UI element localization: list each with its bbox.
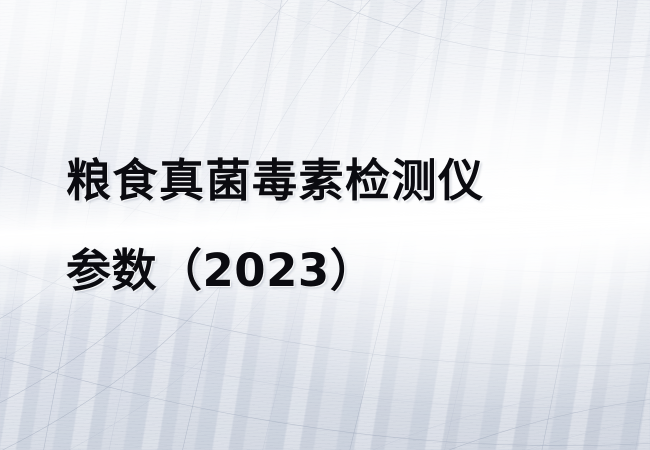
page-title: 粮食真菌毒素检测仪 参数（2023） <box>66 136 626 316</box>
title-line-primary: 粮食真菌毒素检测仪 <box>66 136 626 226</box>
title-banner: 粮食真菌毒素检测仪 参数（2023） <box>0 0 650 450</box>
title-line-secondary: 参数（2023） <box>66 226 626 316</box>
